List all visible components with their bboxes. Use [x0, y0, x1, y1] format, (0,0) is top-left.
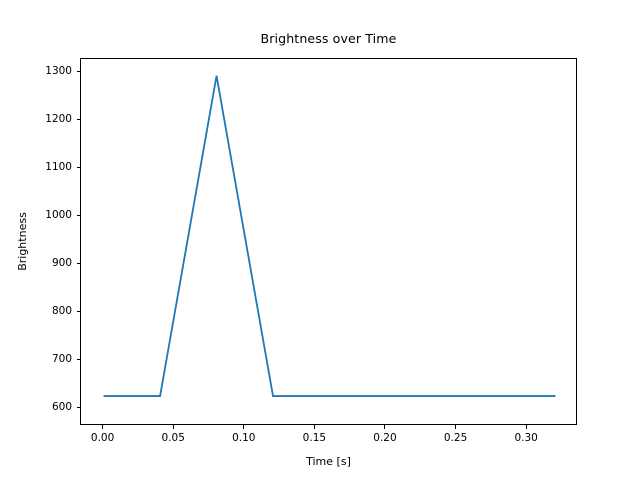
y-tick-label: 1200 — [45, 113, 72, 125]
plot-axes-area — [80, 58, 577, 425]
x-tick-mark — [384, 425, 385, 429]
y-tick-label: 1300 — [45, 65, 72, 77]
y-tick-mark — [77, 71, 81, 72]
x-tick-mark — [526, 425, 527, 429]
x-axis-label: Time [s] — [80, 455, 577, 468]
chart-title: Brightness over Time — [8, 31, 640, 46]
y-tick-label: 900 — [52, 257, 72, 269]
line-plot-svg — [81, 59, 578, 426]
x-tick-label: 0.00 — [91, 432, 114, 444]
y-tick-mark — [77, 263, 81, 264]
y-tick-mark — [77, 215, 81, 216]
x-tick-label: 0.30 — [514, 432, 537, 444]
brightness-line-series — [104, 76, 556, 396]
y-tick-label: 600 — [52, 401, 72, 413]
x-tick-mark — [455, 425, 456, 429]
y-tick-label: 800 — [52, 305, 72, 317]
y-tick-label: 1100 — [45, 161, 72, 173]
y-tick-label: 1000 — [45, 209, 72, 221]
x-tick-label: 0.20 — [373, 432, 396, 444]
x-tick-label: 0.25 — [444, 432, 467, 444]
y-tick-mark — [77, 167, 81, 168]
y-tick-label: 700 — [52, 353, 72, 365]
x-tick-mark — [314, 425, 315, 429]
x-tick-label: 0.05 — [161, 432, 184, 444]
y-tick-mark — [77, 407, 81, 408]
x-tick-mark — [102, 425, 103, 429]
x-tick-mark — [173, 425, 174, 429]
x-tick-mark — [243, 425, 244, 429]
y-tick-mark — [77, 359, 81, 360]
matplotlib-figure: Brightness over Time 6007008009001000110… — [0, 0, 640, 480]
x-tick-label: 0.15 — [303, 432, 326, 444]
x-tick-label: 0.10 — [232, 432, 255, 444]
y-tick-mark — [77, 119, 81, 120]
y-tick-mark — [77, 311, 81, 312]
y-axis-label: Brightness — [14, 58, 32, 425]
